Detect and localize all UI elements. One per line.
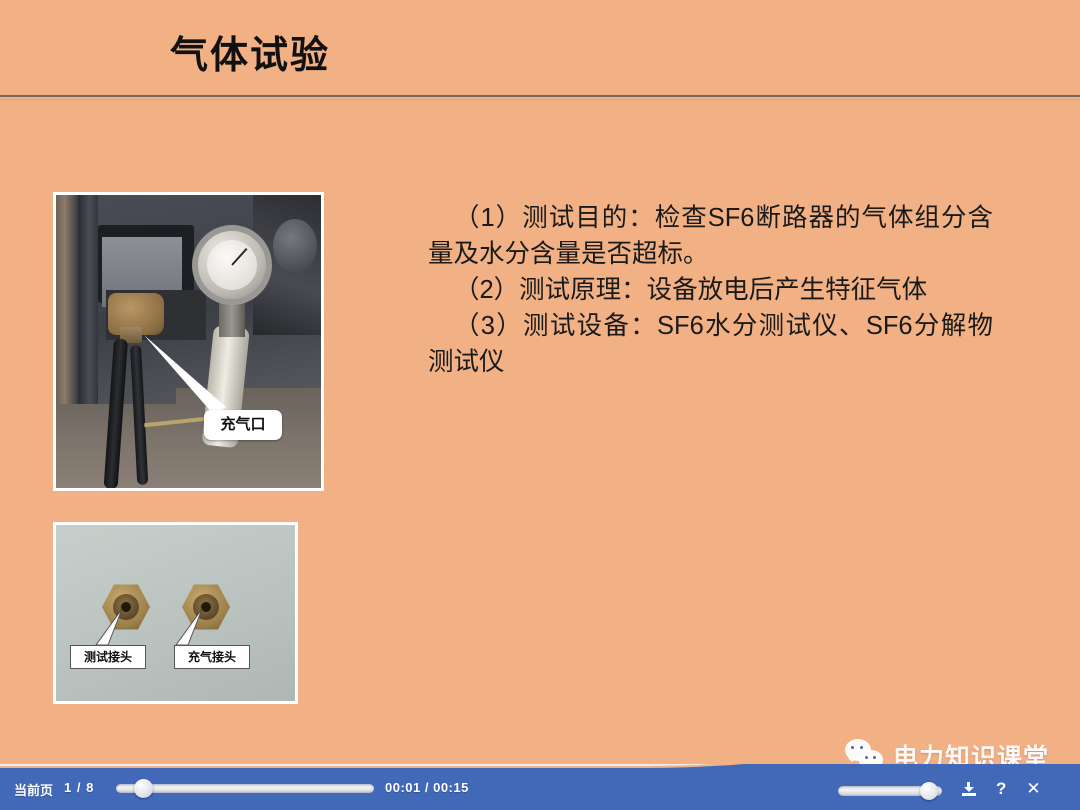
callout-label-filling-connector: 充气接头: [174, 645, 250, 669]
callout-label-gas-filling-port: 充气口: [204, 410, 282, 440]
photo-top-gauge-stem: [219, 303, 245, 337]
body-line-3: （3）测试设备：SF6水分测试仪、SF6分解物测试仪: [428, 308, 993, 380]
photo-bottom-scene: 测试接头 充气接头: [56, 525, 295, 701]
close-x-icon[interactable]: ✕: [1026, 780, 1040, 797]
volume-slider-handle[interactable]: [920, 782, 938, 800]
photo-top-scene: 充气口: [56, 195, 321, 488]
callout-leaders-bottom: [56, 525, 295, 701]
slide-body-text: （1）测试目的：检查SF6断路器的气体组分含量及水分含量是否超标。 （2）测试原…: [428, 200, 993, 380]
photo-connectors: 测试接头 充气接头: [53, 522, 298, 704]
callout-leader-top: [144, 335, 230, 415]
body-line-2: （2）测试原理：设备放电后产生特征气体: [428, 272, 993, 308]
pressure-gauge-icon: [192, 225, 272, 305]
progress-slider-track[interactable]: [116, 784, 374, 793]
current-page-label: 当前页: [14, 780, 53, 799]
pressure-gauge-face: [207, 240, 257, 290]
photo-top-right-coil: [273, 219, 317, 273]
time-display: 00:01 / 00:15: [385, 780, 469, 795]
pressure-gauge-needle: [231, 248, 247, 266]
title-divider: [0, 95, 1080, 97]
page-title: 气体试验: [170, 36, 330, 78]
current-page-value: 1 / 8: [64, 780, 94, 795]
title-divider-shadow: [0, 99, 1080, 100]
download-icon[interactable]: [962, 782, 976, 796]
slide-canvas: 气体试验: [0, 0, 1080, 810]
progress-slider-handle[interactable]: [134, 779, 153, 798]
player-right-icons: ? ✕: [962, 780, 1041, 797]
body-line-1: （1）测试目的：检查SF6断路器的气体组分含量及水分含量是否超标。: [428, 200, 993, 272]
slide-title-bar: 气体试验: [0, 0, 1080, 95]
question-mark-icon[interactable]: ?: [996, 780, 1006, 797]
photo-gas-filling-port: 充气口: [53, 192, 324, 491]
callout-label-test-connector: 测试接头: [70, 645, 146, 669]
